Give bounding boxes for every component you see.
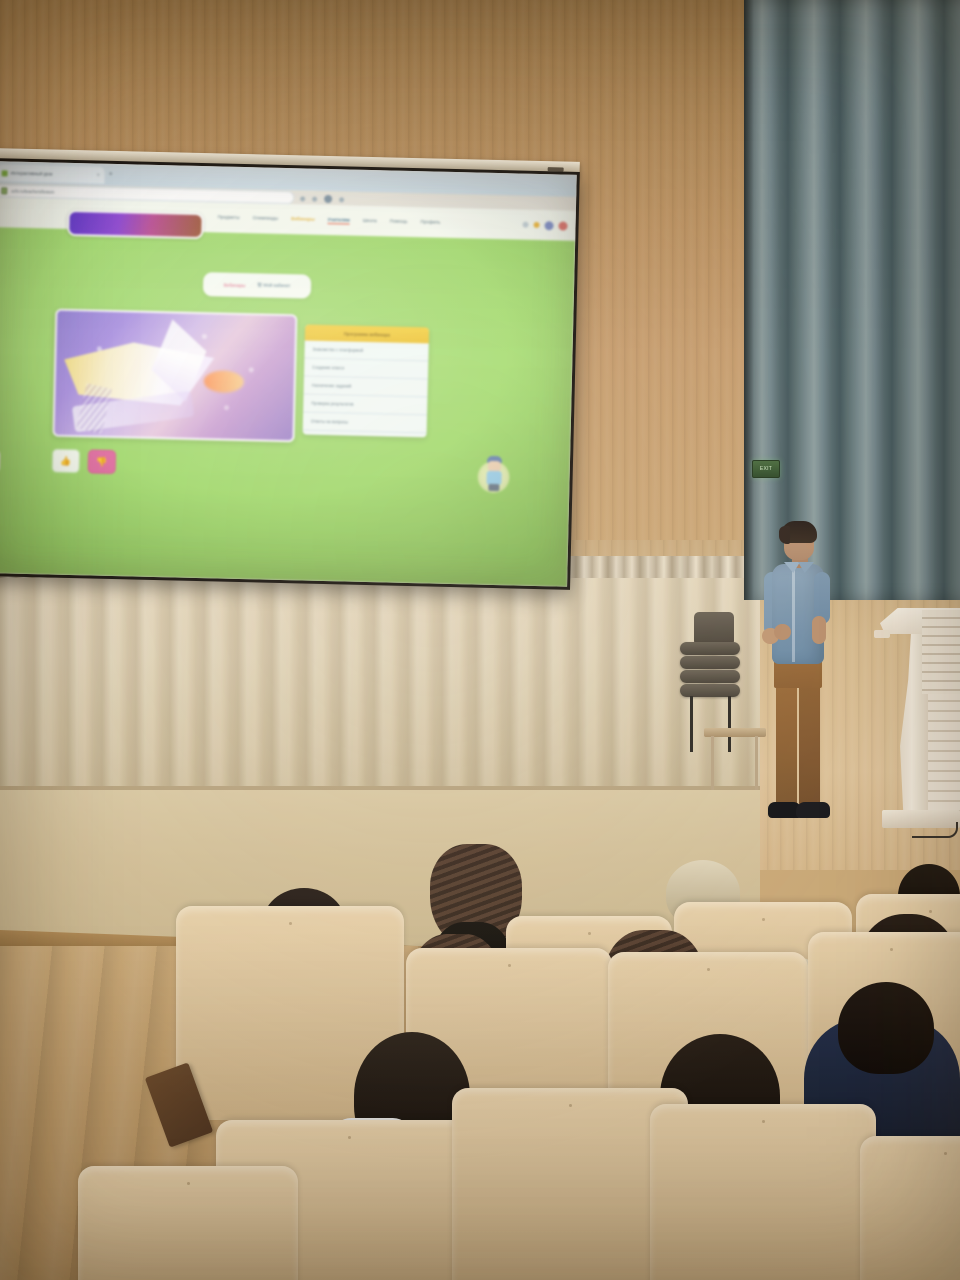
mascot-legs: [488, 484, 499, 491]
agenda-row[interactable]: Ответы на вопросы: [303, 412, 427, 433]
web-page-body: Предметы Олимпиады Вебинары Учителям Шко…: [0, 197, 576, 587]
exit-sign-label: EXIT: [760, 466, 772, 472]
nav-item-profile[interactable]: Профиль: [420, 219, 440, 225]
audience-seat[interactable]: [650, 1104, 876, 1280]
presenter-hair-front: [779, 526, 790, 544]
presenter-right-shoe: [796, 802, 830, 818]
projection-screen-frame: Интерактивный урок × + uchi.ru/teachers/…: [0, 158, 580, 590]
stage-back-drape: [0, 556, 760, 806]
chair-seat-pad: [680, 656, 740, 669]
site-header: Предметы Олимпиады Вебинары Учителям Шко…: [0, 197, 576, 241]
breadcrumb[interactable]: Вебинары 智 Мой кабинет: [203, 272, 312, 299]
agenda-row-label: Ответы на вопросы: [311, 419, 348, 425]
close-icon[interactable]: ×: [97, 172, 100, 178]
address-bar-url: uchi.ru/teachers/lesson: [11, 189, 54, 195]
side-stage-curtain: [744, 0, 960, 600]
bell-icon[interactable]: [523, 222, 529, 228]
presenter-right-hand: [774, 624, 791, 640]
breadcrumb-secondary[interactable]: 智 Мой кабинет: [257, 282, 290, 289]
projection-screen-surface: Интерактивный урок × + uchi.ru/teachers/…: [0, 161, 577, 587]
lesson-agenda-card: Программа вебинара Знакомство с платформ…: [303, 325, 430, 438]
student-presenter: [752, 524, 848, 832]
browser-tab-active[interactable]: Интерактивный урок ×: [0, 164, 105, 184]
audience-seat[interactable]: [860, 1136, 960, 1280]
shirt-placket: [792, 570, 795, 662]
lectern-top-slats: [922, 610, 960, 694]
thumbs-up-icon[interactable]: 👍: [52, 449, 81, 474]
browser-tab-title: Интерактивный урок: [11, 171, 53, 177]
menu-icon[interactable]: [339, 197, 344, 202]
presenter-right-leg: [799, 682, 820, 806]
agenda-header-label: Программа вебинара: [344, 331, 390, 337]
chair-seat-pad: [680, 642, 740, 655]
nav-item-help[interactable]: Помощь: [390, 218, 408, 224]
site-nav[interactable]: Предметы Олимпиады Вебинары Учителям Шко…: [218, 214, 441, 226]
vote-button-group[interactable]: 👍 👎: [52, 449, 123, 475]
curtain-shadow-edge: [744, 0, 754, 600]
thumbs-down-icon[interactable]: 👎: [88, 449, 117, 474]
breadcrumb-primary[interactable]: Вебинары: [224, 282, 246, 288]
site-mascot-icon[interactable]: [477, 453, 512, 494]
bookmark-icon[interactable]: [312, 196, 317, 201]
projected-browser-window: Интерактивный урок × + uchi.ru/teachers/…: [0, 161, 577, 587]
chair-seat-pad: [680, 670, 740, 683]
exit-sign: EXIT: [752, 460, 780, 478]
agenda-row-label: Знакомство с платформой: [313, 347, 364, 353]
auditorium-photo: EXIT Интерактивный урок × + uchi.ru/t: [0, 0, 960, 1280]
agenda-row-label: Проверка результатов: [311, 401, 353, 407]
coin-icon[interactable]: [534, 222, 540, 228]
nav-item-olympiads[interactable]: Олимпиады: [253, 215, 279, 222]
avatar-icon[interactable]: [544, 221, 553, 230]
presenter-right-forearm: [812, 616, 826, 644]
site-favicon: [2, 170, 8, 176]
audience-seat[interactable]: [78, 1166, 298, 1280]
nav-item-school[interactable]: Школа: [363, 218, 377, 224]
site-logo[interactable]: [67, 210, 204, 239]
lesson-media-card[interactable]: [52, 309, 297, 443]
extensions-icon[interactable]: [300, 196, 305, 201]
lectern-lip: [874, 630, 890, 638]
lectern: [876, 608, 960, 840]
heart-icon[interactable]: [558, 221, 567, 230]
nav-item-subjects[interactable]: Предметы: [218, 214, 240, 221]
media-shape-glow: [204, 370, 245, 393]
audience-head: [838, 982, 934, 1074]
presenter-left-leg: [776, 682, 797, 806]
nav-item-teachers[interactable]: Учителям: [328, 217, 350, 225]
profile-avatar[interactable]: [324, 195, 332, 203]
audience-seating: [0, 836, 960, 1280]
agenda-row-label: Назначение заданий: [312, 383, 352, 389]
chair-backrest: [694, 612, 734, 646]
lock-icon: [1, 187, 7, 194]
new-tab-icon[interactable]: +: [109, 171, 117, 179]
agenda-row-label: Создание класса: [312, 365, 345, 371]
nav-item-webinars[interactable]: Вебинары: [291, 216, 315, 223]
site-header-icons[interactable]: [522, 220, 567, 230]
